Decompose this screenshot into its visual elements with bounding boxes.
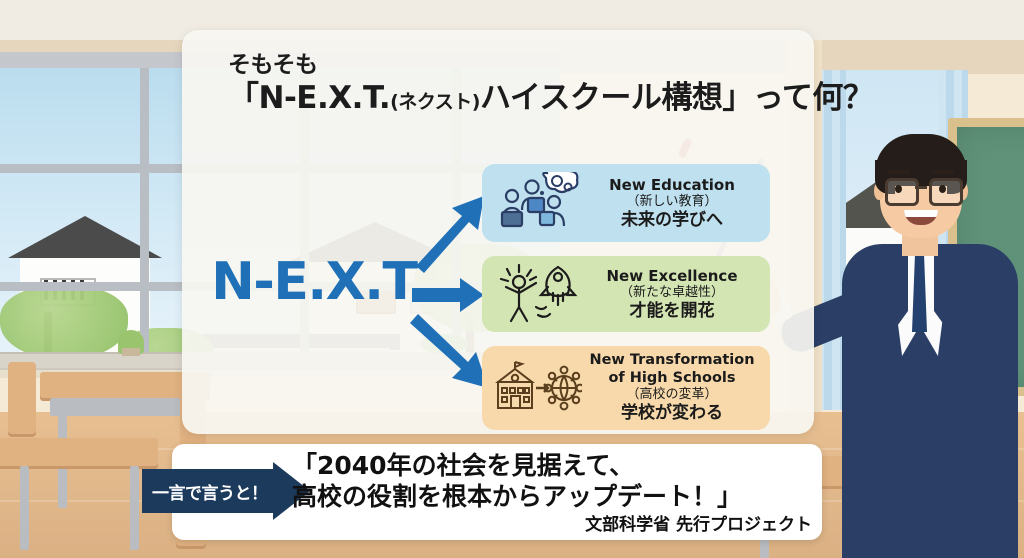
box2-title-jp: （新たな卓越性） [584, 285, 760, 301]
house-1-roof [8, 216, 162, 258]
desk-1-box [50, 398, 200, 416]
box3-tagline: 学校が変わる [584, 403, 760, 423]
title-next-part: 「N-E.X.T. [228, 80, 390, 116]
slide-canvas: そもそも 「N-E.X.T.(ネクスト)ハイスクール構想」って何？ N-E.X.… [0, 0, 1024, 558]
teacher-eye-left [895, 185, 902, 193]
title-katakana-part: (ネクスト) [390, 91, 480, 113]
box1-tagline: 未来の学びへ [584, 210, 760, 230]
desk-2-leg-b [130, 466, 139, 550]
box1-title-jp: （新しい教育） [584, 194, 760, 210]
next-keyword: N-E.X.T. [204, 252, 434, 312]
title-rest-part: ハイスクール構想」って何？ [480, 80, 873, 116]
students-learning-icon [492, 172, 584, 234]
glasses-icon-left [885, 178, 919, 206]
concept-box-new-transformation[interactable]: New Transformation of High Schools （高校の変… [482, 346, 770, 430]
chair-1-back [8, 362, 36, 434]
box3-title-jp: （高校の変革） [584, 387, 760, 403]
quote-line-2: 高校の役割を根本からアップデート！」 [292, 482, 812, 513]
window-mullion-v1 [140, 60, 149, 360]
teacher-character [830, 120, 1024, 558]
school-network-icon [492, 358, 584, 418]
glasses-icon-right [929, 178, 963, 206]
plant-pot [122, 348, 140, 356]
desk-2-leg-a [20, 466, 29, 550]
concept-box-text: New Education （新しい教育） 未来の学びへ [584, 176, 760, 231]
teacher-eye-right [939, 185, 946, 193]
page-title: そもそも 「N-E.X.T.(ネクスト)ハイスクール構想」って何？ [228, 52, 788, 117]
title-line-2: 「N-E.X.T.(ネクスト)ハイスクール構想」って何？ [228, 81, 788, 117]
banner-arrow-text: 一言で言うと！ [142, 479, 268, 504]
concept-box-text: New Transformation of High Schools （高校の変… [584, 352, 760, 424]
quote-line-1: 「2040年の社会を見据えて、 [292, 451, 812, 482]
teacher-brow-right [932, 170, 954, 174]
glasses-bridge [915, 186, 927, 189]
arrow-up-right [410, 190, 490, 274]
quote-attribution: 文部科学省 先行プロジェクト [292, 510, 820, 535]
title-line-1: そもそも [228, 52, 788, 79]
desk-2-top [0, 438, 158, 466]
person-rocket-icon [492, 263, 584, 325]
arrow-right [412, 278, 484, 312]
box3-title-en-2: of High Schools [584, 370, 760, 387]
teacher-teeth [904, 210, 938, 217]
concept-box-new-excellence[interactable]: New Excellence （新たな卓越性） 才能を開花 [482, 256, 770, 332]
box2-tagline: 才能を開花 [584, 301, 760, 321]
concept-box-new-education[interactable]: New Education （新しい教育） 未来の学びへ [482, 164, 770, 242]
box1-title-en: New Education [584, 176, 760, 194]
box3-title-en-1: New Transformation [584, 352, 760, 369]
box2-title-en: New Excellence [584, 267, 760, 285]
summary-quote: 「2040年の社会を見据えて、 高校の役割を根本からアップデート！」 [292, 451, 812, 512]
willow-tree-1 [0, 286, 128, 360]
teacher-brow-left [888, 170, 910, 174]
concept-box-text: New Excellence （新たな卓越性） 才能を開花 [584, 267, 760, 322]
main-content-panel: そもそも 「N-E.X.T.(ネクスト)ハイスクール構想」って何？ N-E.X.… [182, 30, 814, 434]
